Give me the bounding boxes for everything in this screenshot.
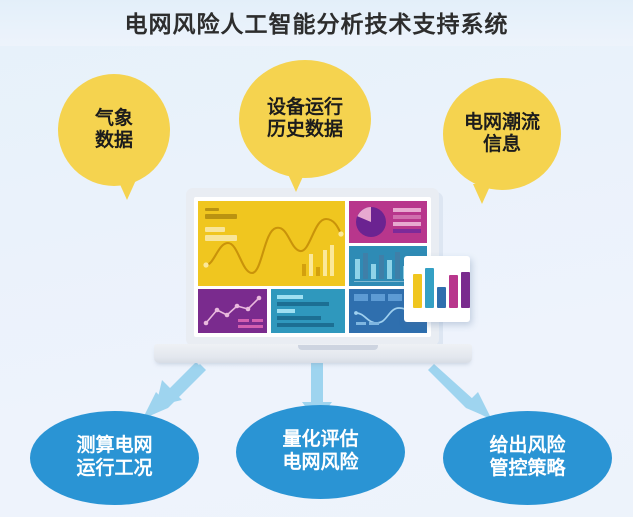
- result-line: 给出风险: [489, 435, 565, 458]
- bubble-line: 历史数据: [267, 119, 343, 141]
- mini-bar: [316, 267, 320, 276]
- panel-label-bar: [393, 229, 421, 233]
- input-bubble-weather-data[interactable]: 气象 数据: [58, 74, 170, 186]
- bubble-line: 电网潮流: [464, 112, 540, 134]
- list-line: [277, 316, 321, 320]
- panel-label-bar: [369, 322, 379, 325]
- panel-label-bar: [393, 215, 421, 219]
- result-line: 运行工况: [76, 458, 152, 481]
- bubble-line: 设备运行: [267, 97, 343, 119]
- floating-bar: [449, 275, 458, 308]
- panel-label-bar: [393, 208, 421, 212]
- bar: [395, 252, 400, 279]
- panel-label-bar: [356, 322, 366, 325]
- dashboard-panel-line-chart-yellow[interactable]: [198, 201, 345, 286]
- list-line: [277, 309, 295, 313]
- bar: [387, 260, 392, 279]
- bubble-line: 数据: [95, 130, 133, 152]
- bar: [355, 259, 360, 279]
- floating-bar: [437, 287, 446, 308]
- result-line: 量化评估: [282, 429, 358, 452]
- panel-label-bar: [238, 319, 249, 322]
- list-line: [277, 323, 334, 327]
- bubble-line: 气象: [95, 108, 133, 130]
- output-quantify-grid-risk[interactable]: 量化评估 电网风险: [236, 405, 405, 499]
- laptop-trackpad: [298, 345, 378, 350]
- mini-bar: [309, 254, 313, 276]
- laptop-lid: [186, 188, 439, 346]
- floating-bar: [413, 274, 422, 308]
- bar: [379, 255, 384, 279]
- mini-bar: [330, 245, 334, 276]
- result-line: 管控策略: [489, 458, 565, 481]
- panel-label-bar: [252, 319, 263, 322]
- bar: [371, 264, 376, 279]
- pie-chart-icon: [354, 205, 388, 239]
- page-title: 电网风险人工智能分析技术支持系统: [0, 5, 633, 39]
- result-line: 电网风险: [282, 452, 358, 475]
- dashboard-panel-text-list-teal[interactable]: [271, 289, 345, 333]
- laptop-screen: [194, 197, 431, 337]
- input-bubble-equipment-data[interactable]: 设备运行 历史数据: [239, 60, 371, 178]
- list-line: [277, 302, 329, 306]
- floating-bar: [425, 268, 434, 308]
- bubble-line: 信息: [483, 134, 521, 156]
- bar: [363, 253, 368, 279]
- infographic-canvas: 电网风险人工智能分析技术支持系统 气象 数据 设备运行 历史数据 电网潮流 信息: [0, 0, 633, 517]
- mini-bar: [323, 250, 327, 276]
- floating-bar-chart-card[interactable]: [404, 256, 470, 322]
- dashboard-panel-pie-chart-magenta[interactable]: [349, 201, 427, 243]
- input-bubble-powerflow-data[interactable]: 电网潮流 信息: [443, 78, 561, 190]
- panel-label-bar: [393, 222, 421, 226]
- output-risk-control-strategy[interactable]: 给出风险 管控策略: [443, 411, 612, 505]
- result-line: 测算电网: [76, 435, 152, 458]
- dashboard-panel-trend-chart-purple[interactable]: [198, 289, 267, 333]
- mini-bar: [302, 264, 306, 276]
- output-calculate-grid-operating-condition[interactable]: 测算电网 运行工况: [30, 411, 199, 505]
- panel-label-bar: [238, 325, 263, 328]
- list-line: [277, 295, 303, 299]
- floating-bar: [461, 272, 470, 308]
